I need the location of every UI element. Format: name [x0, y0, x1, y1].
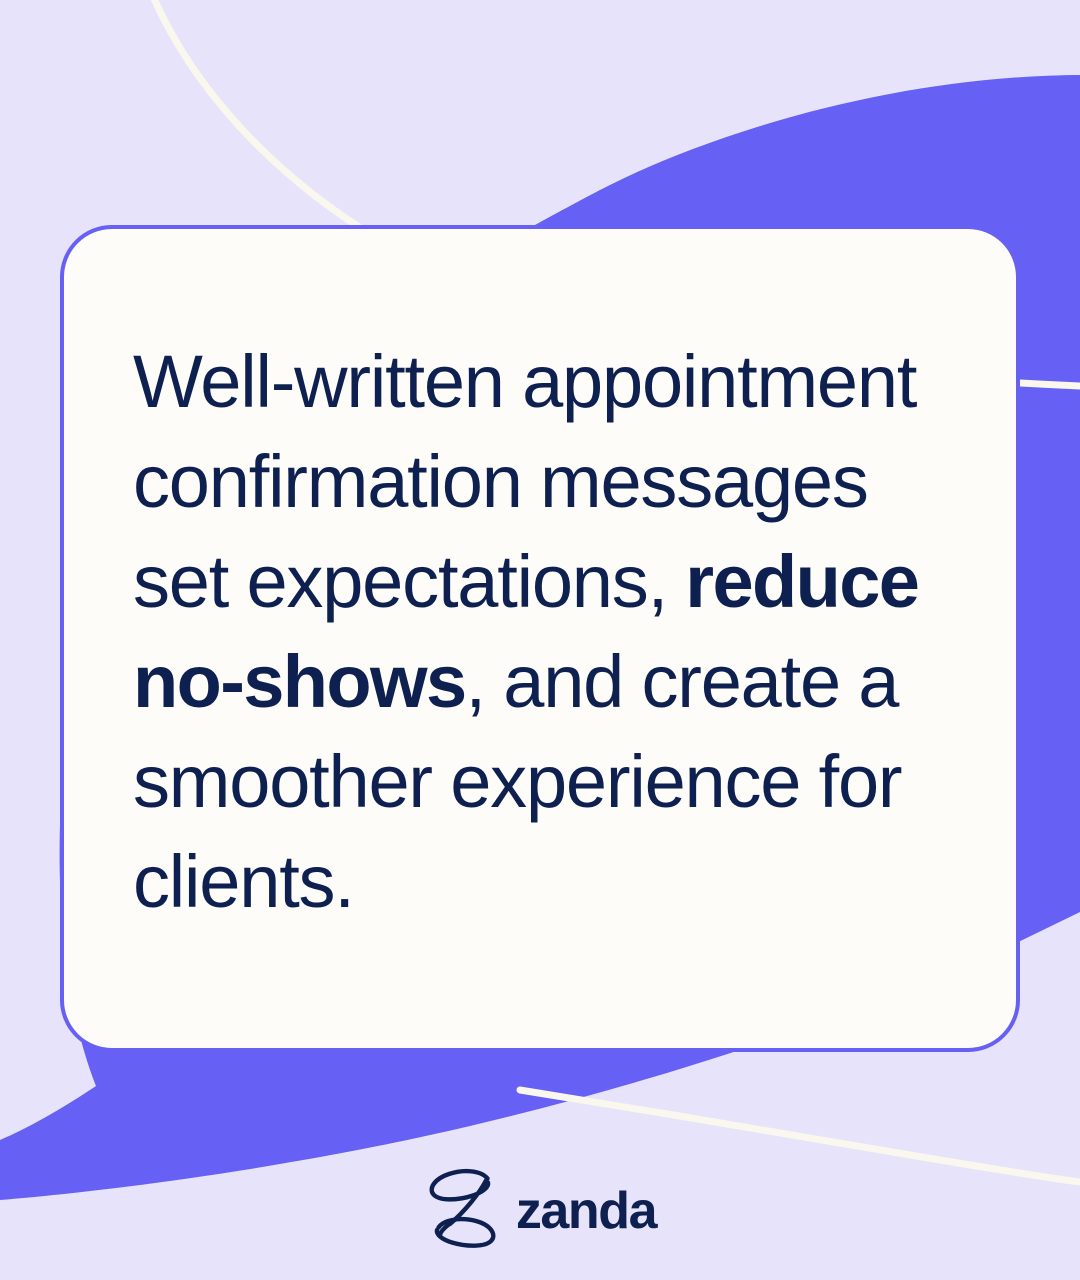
- zanda-z-scribble-mark: [424, 1166, 502, 1250]
- brand-lockup: zanda: [0, 1162, 1080, 1254]
- quote-text: Well-written appointment confirmation me…: [133, 332, 943, 932]
- brand-wordmark: zanda: [516, 1185, 656, 1237]
- poster-canvas: Well-written appointment confirmation me…: [0, 0, 1080, 1280]
- quote-card: Well-written appointment confirmation me…: [60, 225, 1020, 1052]
